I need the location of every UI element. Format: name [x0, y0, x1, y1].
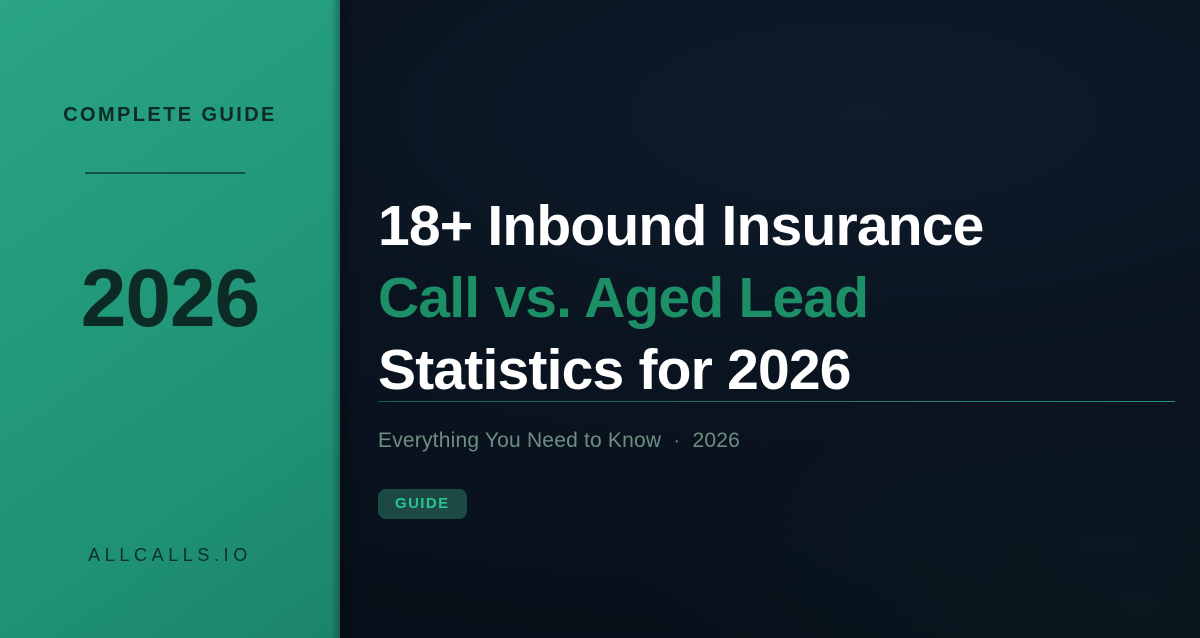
subtitle-text: Everything You Need to Know: [378, 429, 661, 452]
title-divider: [378, 401, 1175, 402]
title-line-3: Statistics for 2026: [378, 334, 1178, 406]
guide-cover-card: COMPLETE GUIDE 2026 ALLCALLS.IO 18+ Inbo…: [0, 0, 1200, 638]
main-content: 18+ Inbound Insurance Call vs. Aged Lead…: [378, 0, 1178, 638]
eyebrow-divider: [85, 172, 245, 174]
complete-guide-eyebrow: COMPLETE GUIDE: [40, 96, 300, 134]
subtitle-year: 2026: [692, 429, 740, 452]
title-line-2-accent: Call vs. Aged Lead: [378, 262, 1178, 334]
left-green-panel: COMPLETE GUIDE 2026 ALLCALLS.IO: [0, 0, 340, 638]
page-title: 18+ Inbound Insurance Call vs. Aged Lead…: [378, 190, 1178, 406]
year-display: 2026: [40, 258, 300, 340]
guide-badge[interactable]: GUIDE: [378, 489, 467, 519]
subtitle-separator-dot: ·: [661, 429, 692, 453]
left-panel-content: COMPLETE GUIDE 2026 ALLCALLS.IO: [0, 0, 340, 638]
title-line-1: 18+ Inbound Insurance: [378, 190, 1178, 262]
brand-wordmark: ALLCALLS.IO: [40, 545, 300, 566]
subtitle: Everything You Need to Know·2026: [378, 429, 740, 453]
